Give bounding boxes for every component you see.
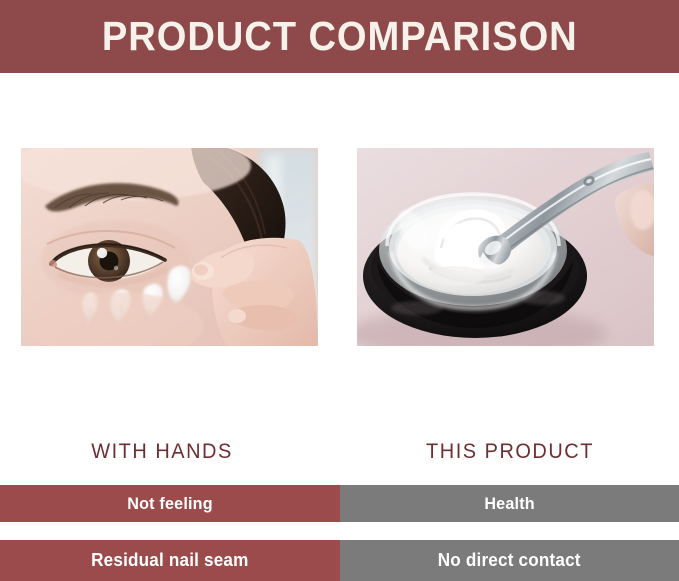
comparison-cell-this-product: Health [340,485,679,522]
photo-with-hands [21,148,318,346]
comparison-cell-text: Residual nail seam [91,550,248,571]
comparison-column-headers: WITH HANDS THIS PRODUCT [0,440,679,485]
comparison-cell-text: Not feeling [127,494,213,514]
comparison-row: Not feeling Health [0,485,679,522]
column-header-this-product: THIS PRODUCT [349,440,672,464]
column-header-with-hands: WITH HANDS [1,440,324,464]
photo-this-product [357,148,654,346]
photo-this-product-image [357,148,654,346]
photo-with-hands-image [21,148,318,346]
comparison-cell-with-hands: Not feeling [0,485,340,522]
header-banner: PRODUCT COMPARISON [0,0,679,73]
comparison-cell-with-hands: Residual nail seam [0,540,340,581]
comparison-cell-text: Health [484,494,534,514]
comparison-cell-this-product: No direct contact [340,540,679,581]
photo-gallery [0,73,679,420]
page-title: PRODUCT COMPARISON [102,16,578,57]
comparison-row: Residual nail seam No direct contact [0,540,679,581]
comparison-cell-text: No direct contact [438,550,581,571]
